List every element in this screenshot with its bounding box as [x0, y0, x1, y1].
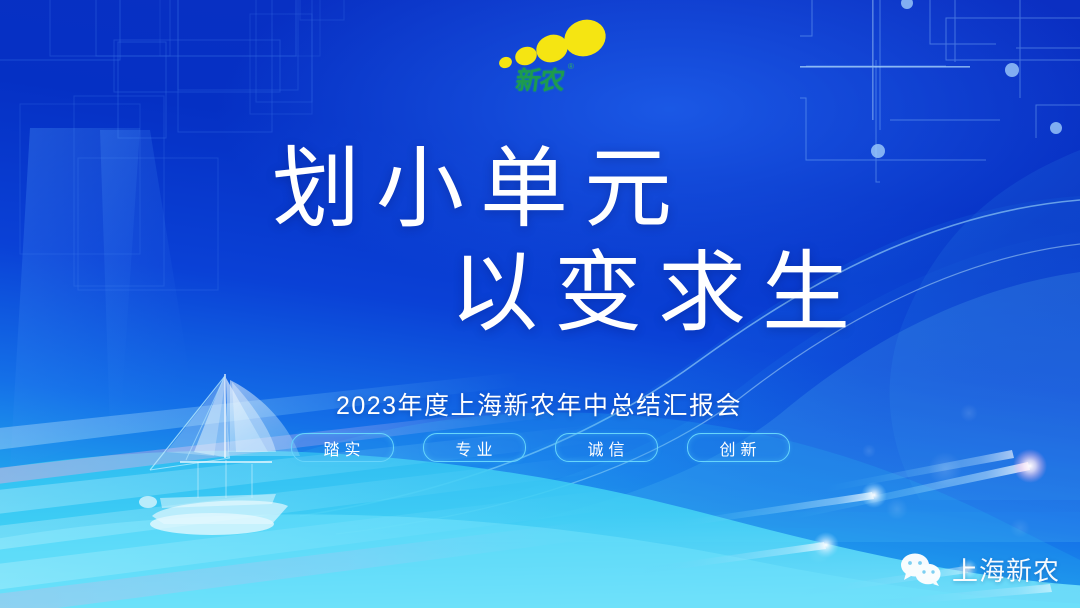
- logo-wordmark: 新农: [513, 61, 566, 97]
- badge-zhuanye[interactable]: 专业: [423, 433, 526, 462]
- xinnong-logo: 新农 ®: [497, 14, 597, 96]
- badge-chengxin[interactable]: 诚信: [555, 433, 658, 462]
- value-badge-row: 踏实 专业 诚信 创新: [0, 433, 1080, 462]
- subtitle: 2023年度上海新农年中总结汇报会: [0, 386, 1080, 422]
- circuit-trace-pattern: [800, 0, 1080, 182]
- circuit-highlight-line: [800, 0, 970, 120]
- title-line-2: 以变求生: [450, 250, 866, 340]
- logo-trademark-icon: ®: [568, 62, 574, 71]
- title-line-1: 划小单元: [272, 146, 688, 236]
- poster-canvas: 新农 ® 划小单元 以变求生 2023年度上海新农年中总结汇报会 踏实 专业 诚…: [0, 0, 1080, 608]
- subtitle-text: 2023年度上海新农年中总结汇报会: [336, 392, 742, 420]
- wechat-icon: [899, 553, 943, 586]
- wechat-account-name: 上海新农: [952, 551, 1060, 588]
- badge-chuangxin[interactable]: 创新: [687, 433, 790, 462]
- circuit-node-dots: [871, 0, 1062, 158]
- logo-dot-1: [498, 55, 514, 70]
- wechat-watermark[interactable]: 上海新农: [899, 551, 1060, 588]
- badge-tashi[interactable]: 踏实: [291, 433, 394, 462]
